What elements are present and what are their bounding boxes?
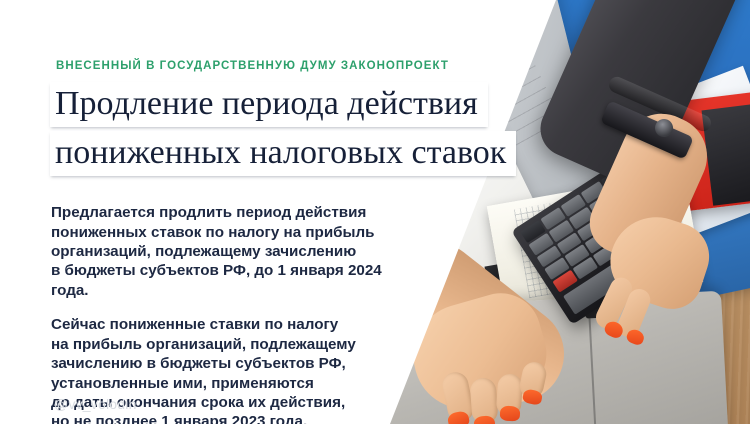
body-text: Предлагается продлить период действия по… <box>51 188 423 424</box>
eyebrow-label: ВНЕСЕННЫЙ В ГОСУДАРСТВЕННУЮ ДУМУ ЗАКОНОП… <box>56 60 449 72</box>
page-title: Продление периода действия пониженных на… <box>50 82 516 180</box>
text-content: ВНЕСЕННЫЙ В ГОСУДАРСТВЕННУЮ ДУМУ ЗАКОНОП… <box>0 0 750 424</box>
headline-line-1: Продление периода действия <box>50 82 488 127</box>
headline-line-2: пониженных налоговых ставок <box>50 131 516 176</box>
headline-row-1: Продление периода действия <box>50 82 516 127</box>
social-card: ВНЕСЕННЫЙ В ГОСУДАРСТВЕННУЮ ДУМУ ЗАКОНОП… <box>0 0 750 424</box>
author-handle: @vv_volodin <box>54 396 137 412</box>
body-paragraph-1: Предлагается продлить период действия по… <box>51 203 423 300</box>
headline-row-2: пониженных налоговых ставок <box>50 131 516 176</box>
